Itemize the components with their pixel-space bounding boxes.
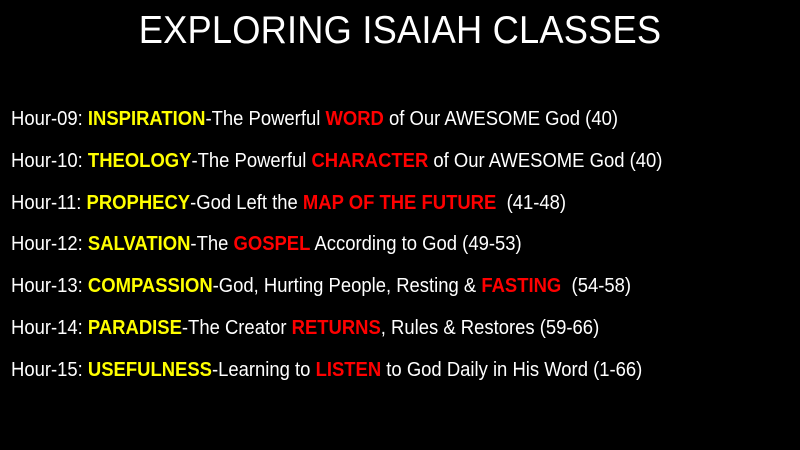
class-description-lead: -The Powerful — [205, 107, 325, 130]
class-description-lead: -The Powerful — [191, 149, 311, 172]
slide-title: EXPLORING ISAIAH CLASSES — [28, 8, 772, 54]
class-topic-keyword: SALVATION — [88, 232, 191, 255]
class-description-lead: -The — [190, 232, 233, 255]
class-description-lead: -God, Hurting People, Resting & — [213, 274, 482, 297]
class-accent-keyword: CHARACTER — [311, 149, 428, 172]
class-topic-keyword: PROPHECY — [87, 191, 191, 214]
class-description-lead: -The Creator — [182, 316, 292, 339]
class-description-tail: of Our AWESOME God (40) — [428, 149, 662, 172]
class-description-tail: According to God (49-53) — [310, 232, 521, 255]
class-hour-label: Hour-14: — [11, 316, 88, 339]
class-topic-keyword: INSPIRATION — [88, 107, 206, 130]
class-description-lead: -Learning to — [212, 358, 316, 381]
class-description-lead: -God Left the — [190, 191, 303, 214]
class-list-item: Hour-15: USEFULNESS-Learning to LISTEN t… — [11, 349, 721, 391]
class-list-item: Hour-11: PROPHECY-God Left the MAP OF TH… — [11, 182, 721, 224]
class-topic-keyword: USEFULNESS — [88, 358, 212, 381]
class-topic-keyword: PARADISE — [88, 316, 182, 339]
class-list-item: Hour-14: PARADISE-The Creator RETURNS, R… — [11, 307, 721, 349]
class-hour-label: Hour-13: — [11, 274, 88, 297]
class-hour-label: Hour-10: — [11, 149, 88, 172]
class-description-tail: to God Daily in His Word (1-66) — [381, 358, 642, 381]
class-list-item: Hour-12: SALVATION-The GOSPEL According … — [11, 223, 721, 265]
class-accent-keyword: GOSPEL — [233, 232, 310, 255]
class-hour-label: Hour-12: — [11, 232, 88, 255]
class-accent-keyword: FASTING — [481, 274, 561, 297]
presentation-slide: EXPLORING ISAIAH CLASSES Hour-09: INSPIR… — [0, 0, 800, 450]
class-description-tail: (41-48) — [496, 191, 566, 214]
class-hour-label: Hour-09: — [11, 107, 88, 130]
class-list-item: Hour-09: INSPIRATION-The Powerful WORD o… — [11, 98, 721, 140]
class-hour-label: Hour-11: — [11, 191, 87, 214]
class-list-item: Hour-10: THEOLOGY-The Powerful CHARACTER… — [11, 140, 721, 182]
class-accent-keyword: LISTEN — [316, 358, 382, 381]
class-accent-keyword: RETURNS — [292, 316, 381, 339]
class-description-tail: of Our AWESOME God (40) — [384, 107, 618, 130]
class-schedule-list: Hour-09: INSPIRATION-The Powerful WORD o… — [11, 98, 800, 391]
class-hour-label: Hour-15: — [11, 358, 88, 381]
class-accent-keyword: WORD — [325, 107, 383, 130]
class-topic-keyword: COMPASSION — [88, 274, 213, 297]
class-description-tail: , Rules & Restores (59-66) — [381, 316, 599, 339]
class-description-tail: (54-58) — [561, 274, 631, 297]
class-list-item: Hour-13: COMPASSION-God, Hurting People,… — [11, 265, 721, 307]
class-topic-keyword: THEOLOGY — [88, 149, 192, 172]
class-accent-keyword: MAP OF THE FUTURE — [303, 191, 496, 214]
